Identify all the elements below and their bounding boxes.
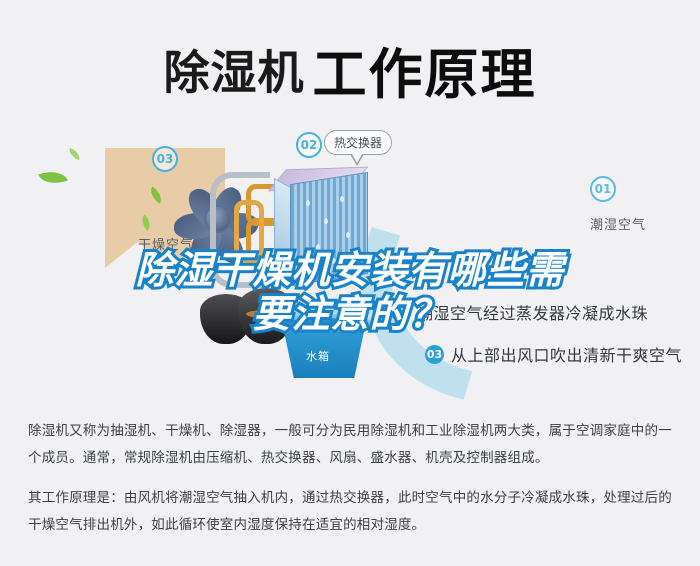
body-paragraph-1: 除湿机又称为抽湿机、干燥机、除湿器，一般可分为民用除湿机和工业除湿机两大类，属于… — [28, 418, 676, 472]
heat-exchanger-icon — [272, 166, 368, 278]
heat-exchanger-fins — [290, 172, 368, 286]
step-number-badge: 03 — [425, 345, 444, 364]
page-title-part-b: 工作原理 — [313, 43, 537, 106]
heat-exchanger-callout-tail-icon — [350, 154, 364, 166]
water-tank-icon: 水箱 — [276, 314, 380, 380]
water-tank-label: 水箱 — [306, 348, 330, 364]
label-dry-air: 干燥空气 — [138, 234, 194, 253]
page-title: 除湿机工作原理 — [0, 30, 700, 109]
step-text: 潮湿空气经过蒸发器冷凝成水珠 — [417, 300, 648, 324]
water-tank-opening — [284, 318, 364, 329]
water-droplet-icon — [306, 200, 310, 206]
step-number-badge: 02 — [391, 303, 410, 322]
page-title-part-a: 除湿机 — [164, 46, 305, 100]
body-paragraph-2: 其工作原理是：由风机将潮湿空气抽入机内，通过热交换器，此时空气中的水分子冷凝成水… — [28, 485, 676, 539]
process-step-02: 02 潮湿空气经过蒸发器冷凝成水珠 — [391, 300, 648, 324]
water-droplet-icon — [346, 232, 350, 238]
water-droplet-icon — [340, 196, 344, 202]
badge-01-humid-air: 01 — [590, 176, 616, 202]
leaf-icon — [38, 166, 67, 188]
step-text: 从上部出风口吹出清新干爽空气 — [451, 342, 682, 366]
badge-02-heat-exchanger: 02 — [296, 132, 322, 158]
badge-03-dry-air: 03 — [152, 146, 178, 172]
coil-pipe — [234, 200, 264, 264]
water-droplet-icon — [316, 244, 320, 250]
heat-exchanger-callout: 热交换器 — [324, 130, 392, 155]
process-step-03: 03 从上部出风口吹出清新干爽空气 — [425, 342, 682, 366]
label-humid-air: 潮湿空气 — [590, 214, 646, 233]
water-droplet-icon — [332, 258, 336, 264]
water-droplet-icon — [324, 218, 328, 224]
